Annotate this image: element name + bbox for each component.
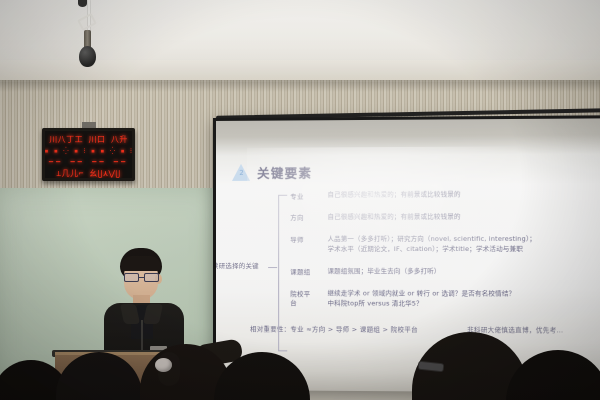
row-value-line2: 学术水平（近期论文，IF、citation）；学术title；学术活动与兼职	[328, 245, 537, 255]
row-value: 自己很感兴趣和热爱的；有前景或比较钱景的	[328, 190, 461, 200]
triangle-number-icon: 2	[232, 164, 251, 181]
slide-row: 院校平台 继续走学术 or 领域内就业 or 转行 or 选调？是否有名校情结？…	[290, 289, 598, 310]
row-key: 课题组	[290, 267, 316, 277]
ceiling-mount-icon	[78, 0, 87, 7]
row-key: 导师	[290, 235, 316, 245]
row-value: 自己很感兴趣和热爱的；有前景或比较钱景的	[328, 212, 461, 222]
led-row-4: ⊥几⼉⌐ ⼳⋃⋏⋁⋃	[50, 170, 127, 178]
grouping-bracket	[278, 195, 287, 352]
slide-row: 专业 自己很感兴趣和热爱的；有前景或比较钱景的	[290, 190, 598, 201]
led-row-3: ━━ ━━ ━━ ━━	[50, 159, 127, 166]
row-value-line1: 自己很感兴趣和热爱的；有前景或比较钱景的	[328, 212, 461, 220]
wall-shadow	[0, 80, 600, 92]
importance-ranking: 相对重要性：专业 ≈方向 > 导师 > 课题组 > 院校平台	[250, 325, 418, 335]
hair-scrunchie	[155, 358, 172, 372]
presenter-fringe	[121, 256, 161, 271]
row-value: 继续走学术 or 领域内就业 or 转行 or 选调？是否有名校情结？ 中科院t…	[328, 289, 516, 309]
slide-row: 导师 人品第一（多多打听）；研究方向（novel, scientific, in…	[290, 234, 598, 254]
classroom-photo: 川八丁⼯ 川口 ⼋升 ▪ ▪ ⁛ ▪ ⁝ ▪ ▪ ⁛ ▪ ⁝ ━━ ━━ ━━ …	[0, 0, 600, 400]
bracket-connector	[268, 267, 277, 268]
row-value-line1: 人品第一（多多打听）；研究方向（novel, scientific, inter…	[328, 235, 537, 243]
projection-screen: 2 关键要素 读研选择的关键 专业 自己很感兴趣和热爱的；有前景或比较钱景的	[213, 115, 600, 392]
slide-content: 2 关键要素 读研选择的关键 专业 自己很感兴趣和热爱的；有前景或比较钱景的	[216, 161, 600, 383]
row-key: 院校平台	[290, 289, 316, 308]
row-value: 人品第一（多多打听）；研究方向（novel, scientific, inter…	[328, 235, 537, 255]
slide-header: 2 关键要素	[232, 161, 598, 182]
slide-title: 关键要素	[257, 163, 312, 182]
microphone-icon	[79, 46, 96, 67]
bracket-label: 读研选择的关键	[216, 261, 259, 270]
slide-rows: 读研选择的关键 专业 自己很感兴趣和热爱的；有前景或比较钱景的 方向 自己很感兴…	[290, 190, 598, 310]
slide-row: 课题组 课题组氛围；毕业生去向（多多打听）	[290, 267, 598, 277]
wall-led-display: 川八丁⼯ 川口 ⼋升 ▪ ▪ ⁛ ▪ ⁝ ▪ ▪ ⁛ ▪ ⁝ ━━ ━━ ━━ …	[42, 128, 135, 181]
slide-row: 方向 自己很感兴趣和热爱的；有前景或比较钱景的	[290, 212, 598, 223]
row-value-line1: 继续走学术 or 领域内就业 or 转行 or 选调？是否有名校情结？	[328, 289, 516, 297]
slide-footer: 相对重要性：专业 ≈方向 > 导师 > 课题组 > 院校平台 非科研大佬慎选直博…	[250, 325, 598, 335]
row-key: 专业	[290, 191, 316, 201]
triangle-icon-number: 2	[232, 169, 251, 177]
eyeglasses-icon	[123, 273, 161, 282]
row-key: 方向	[290, 213, 316, 223]
row-value-line2: 中科院top所 versus 清北华5？	[328, 299, 516, 309]
led-row-2: ▪ ▪ ⁛ ▪ ⁝ ▪ ▪ ⁛ ▪ ⁝	[50, 148, 127, 155]
led-row-1: 川八丁⼯ 川口 ⼋升	[50, 136, 127, 144]
row-value-line1: 课题组氛围；毕业生去向（多多打听）	[328, 267, 441, 275]
row-value-line1: 自己很感兴趣和热爱的；有前景或比较钱景的	[328, 190, 461, 198]
row-value: 课题组氛围；毕业生去向（多多打听）	[328, 267, 441, 277]
